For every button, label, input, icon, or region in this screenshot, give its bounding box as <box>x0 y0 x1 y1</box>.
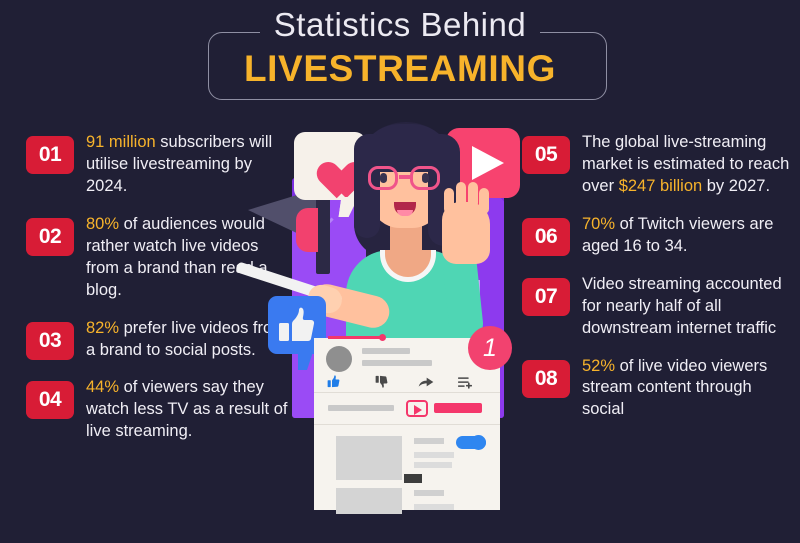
stat-number-badge: 04 <box>26 381 74 419</box>
stat-text: 52% of live video viewers stream content… <box>582 356 790 422</box>
play-triangle <box>414 405 422 415</box>
placeholder-bar <box>362 348 410 354</box>
placeholder-bar <box>414 490 444 496</box>
autoplay-toggle[interactable] <box>456 436 486 449</box>
thumbs-down-icon[interactable] <box>375 374 390 389</box>
placeholder-bar <box>328 405 394 411</box>
stat-highlight: 44% <box>86 378 119 396</box>
stat-item: 07 Video streaming accounted for nearly … <box>522 274 790 340</box>
central-illustration: 1 <box>250 110 550 510</box>
finger <box>479 188 489 214</box>
video-suggestions-list <box>314 428 500 510</box>
character-hand-waving <box>442 202 490 264</box>
stat-highlight: 80% <box>86 215 119 233</box>
divider <box>314 424 500 425</box>
stat-item: 08 52% of live video viewers stream cont… <box>522 356 790 422</box>
stat-item: 03 82% prefer live videos from a brand t… <box>26 318 288 362</box>
play-icon <box>472 146 504 180</box>
video-duration-badge <box>404 474 422 483</box>
divider <box>314 392 500 393</box>
video-player-card[interactable] <box>314 338 500 510</box>
video-action-row <box>314 374 500 390</box>
stat-item: 04 44% of viewers say they watch less TV… <box>26 377 288 443</box>
stat-number-badge: 03 <box>26 322 74 360</box>
page-title-main: LIVESTREAMING <box>0 50 800 87</box>
subscribe-button[interactable] <box>434 403 482 413</box>
page-title-top-text: Statistics Behind <box>260 8 540 41</box>
stats-column-right: 05 The global live-streaming market is e… <box>522 132 790 437</box>
stat-item: 05 The global live-streaming market is e… <box>522 132 790 198</box>
stat-text: 70% of Twitch viewers are aged 16 to 34. <box>582 214 790 258</box>
stat-highlight: 70% <box>582 215 615 233</box>
stat-highlight: 91 million <box>86 133 156 151</box>
stat-highlight: 82% <box>86 319 119 337</box>
placeholder-bar <box>362 360 432 366</box>
thumbs-up-icon[interactable] <box>327 374 342 389</box>
heart-icon <box>308 147 352 187</box>
finger <box>444 188 454 214</box>
header: Statistics Behind LIVESTREAMING <box>0 0 800 112</box>
infographic-page: Statistics Behind LIVESTREAMING 01 91 mi… <box>0 0 800 543</box>
play-icon[interactable] <box>406 400 428 417</box>
placeholder-bar <box>414 438 444 444</box>
character-eye-right <box>422 173 429 183</box>
stat-body: Video streaming accounted for nearly hal… <box>582 275 782 337</box>
placeholder-bar <box>414 452 454 458</box>
stat-highlight: 52% <box>582 357 615 375</box>
stat-body: by 2027. <box>702 177 770 195</box>
stat-text: The global live-streaming market is esti… <box>582 132 790 198</box>
character-eye-left <box>380 173 387 183</box>
finger <box>456 182 466 208</box>
playlist-add-icon[interactable] <box>458 375 474 389</box>
stat-number-badge: 02 <box>26 218 74 256</box>
stats-column-left: 01 91 million subscribers will utilise l… <box>26 132 288 459</box>
notification-badge: 1 <box>468 326 512 370</box>
avatar <box>326 346 352 372</box>
finger <box>468 182 478 208</box>
glasses-icon <box>366 166 446 190</box>
megaphone-accent <box>296 208 318 252</box>
stat-text: Video streaming accounted for nearly hal… <box>582 274 790 340</box>
stat-item: 06 70% of Twitch viewers are aged 16 to … <box>522 214 790 258</box>
video-subscribe-row <box>314 396 500 422</box>
placeholder-bar <box>414 462 452 468</box>
stat-number-badge: 01 <box>26 136 74 174</box>
video-thumbnail[interactable] <box>336 488 402 514</box>
video-thumbnail[interactable] <box>336 436 402 480</box>
placeholder-bar <box>414 504 454 510</box>
page-title-top: Statistics Behind <box>0 8 800 41</box>
glasses-bridge <box>399 175 411 179</box>
stat-highlight: $247 billion <box>619 177 702 195</box>
share-icon[interactable] <box>418 375 434 389</box>
